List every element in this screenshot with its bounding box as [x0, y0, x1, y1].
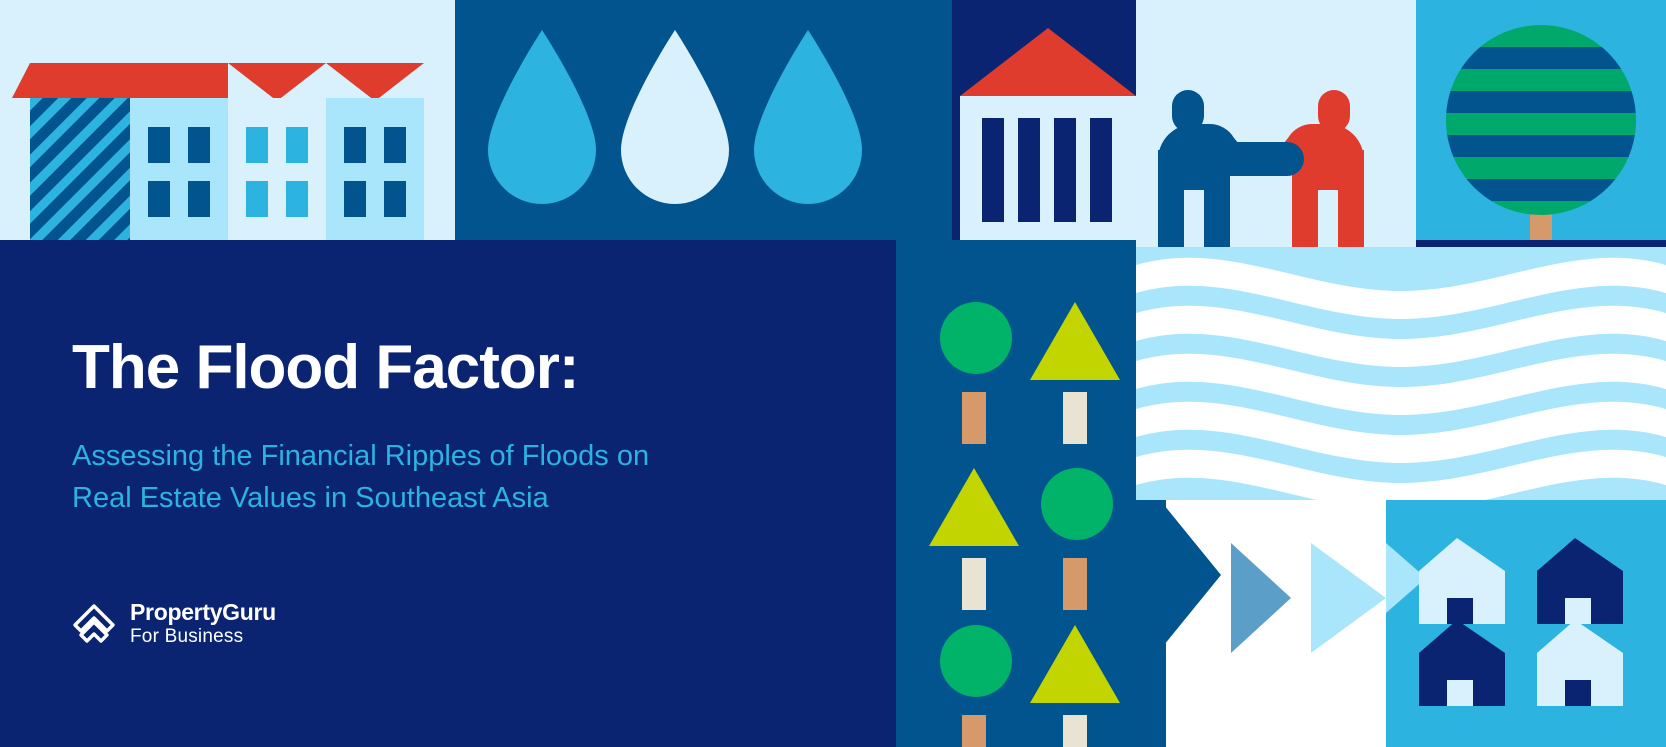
water-drop-icon-1	[488, 30, 596, 204]
propertyguru-logo[interactable]: PropertyGuru For Business	[72, 600, 276, 647]
propertyguru-chevron-icon	[72, 602, 116, 646]
house-icon-group	[1386, 500, 1666, 747]
panel-title-block: The Flood Factor: Assessing the Financia…	[0, 240, 896, 747]
house-3-body	[326, 98, 424, 240]
round-tree-r2c2	[1041, 468, 1113, 540]
house-3	[326, 63, 424, 240]
house-3-window-2	[384, 127, 406, 163]
handshake-left-leg-2	[1204, 188, 1230, 247]
water-drop-icon-2	[621, 30, 729, 204]
water-drop-icon-3	[754, 30, 862, 204]
house-1-window-4	[188, 181, 210, 217]
tree-trunk-r2c2	[1063, 558, 1087, 610]
striped-block-roof	[30, 63, 130, 98]
bank-plinth	[960, 222, 1136, 240]
striped-building-block	[30, 98, 130, 240]
page-subtitle-line-1: Assessing the Financial Ripples of Flood…	[72, 435, 832, 477]
panel-water-drops	[455, 0, 896, 240]
panel-row-houses	[0, 0, 455, 240]
house-3-window-1	[344, 127, 366, 163]
handshake-clasp	[1256, 142, 1304, 176]
round-tree-r1c1	[940, 302, 1012, 374]
house-2-window-4	[286, 181, 308, 217]
panel-mini-houses	[1386, 500, 1666, 747]
handshake-right-leg-1	[1292, 188, 1318, 247]
logo-tagline: For Business	[130, 626, 276, 647]
house-2-window-3	[246, 181, 268, 217]
bank-pillar-1	[982, 118, 1004, 222]
house-1	[130, 63, 228, 240]
house-2	[228, 63, 326, 240]
arrow-right-icon-1	[1231, 543, 1291, 653]
logo-brand-name: PropertyGuru	[130, 600, 276, 626]
mini-house-4	[1537, 620, 1623, 706]
mini-house-3-door	[1447, 680, 1473, 706]
triangle-tree-r3c2	[1030, 625, 1120, 703]
page-subtitle-line-2: Real Estate Values in Southeast Asia	[72, 477, 832, 519]
page-subtitle: Assessing the Financial Ripples of Flood…	[72, 435, 832, 519]
house-3-window-4	[384, 181, 406, 217]
house-2-window-1	[246, 127, 268, 163]
bank-roof-pediment	[960, 28, 1136, 96]
handshake-left-leg-1	[1158, 188, 1184, 247]
tree-icon	[1446, 25, 1636, 215]
handshake-icon	[1136, 0, 1416, 247]
water-drop-icon-group	[455, 0, 896, 240]
house-3-roof-peak	[326, 63, 424, 101]
tree-trunk-r2c1	[962, 558, 986, 610]
arrow-right-icon-2	[1311, 543, 1386, 653]
mini-house-2-door	[1565, 598, 1591, 624]
house-1-window-1	[148, 127, 170, 163]
bank-pillar-2	[1018, 118, 1040, 222]
mini-house-3	[1419, 620, 1505, 706]
striped-block-roof-eave	[12, 63, 30, 98]
mini-house-2	[1537, 538, 1623, 624]
tree-trunk-r1c1	[962, 392, 986, 444]
triangle-tree-r1c2	[1030, 302, 1120, 380]
mini-house-4-door	[1565, 680, 1591, 706]
tree-trunk-r3c2	[1063, 715, 1087, 747]
tree-trunk-r3c1	[962, 715, 986, 747]
bank-side-column	[896, 0, 952, 240]
arrow-tail-block	[1136, 500, 1166, 747]
page-title: The Flood Factor:	[72, 335, 872, 400]
tree-trunk-r1c2	[1063, 392, 1087, 444]
house-2-body	[228, 98, 326, 240]
house-3-window-3	[344, 181, 366, 217]
panel-tree-grid	[896, 240, 1136, 747]
panel-handshake	[1136, 0, 1416, 247]
bank-pillar-3	[1054, 118, 1076, 222]
waves-icon	[1136, 247, 1666, 500]
house-2-window-2	[286, 127, 308, 163]
arrow-right-icon-group	[1136, 500, 1386, 747]
logo-text: PropertyGuru For Business	[130, 600, 276, 647]
mini-house-1	[1419, 538, 1505, 624]
mini-house-1-door	[1447, 598, 1473, 624]
round-tree-r3c1	[940, 625, 1012, 697]
house-2-roof-peak	[228, 63, 326, 101]
bank-pillar-4	[1090, 118, 1112, 222]
panel-bank-building	[896, 0, 1136, 240]
house-1-window-2	[188, 127, 210, 163]
house-1-body	[130, 98, 228, 240]
house-1-window-3	[148, 181, 170, 217]
house-1-roof-flat	[130, 63, 228, 98]
infographic-hero-banner: The Flood Factor: Assessing the Financia…	[0, 0, 1666, 747]
handshake-right-leg-2	[1338, 188, 1364, 247]
panel-striped-tree	[1416, 0, 1666, 240]
panel-progress-arrows	[1136, 500, 1386, 747]
triangle-tree-r2c1	[929, 468, 1019, 546]
panel-flood-waves	[1136, 247, 1666, 500]
row-houses-illustration	[30, 30, 425, 240]
